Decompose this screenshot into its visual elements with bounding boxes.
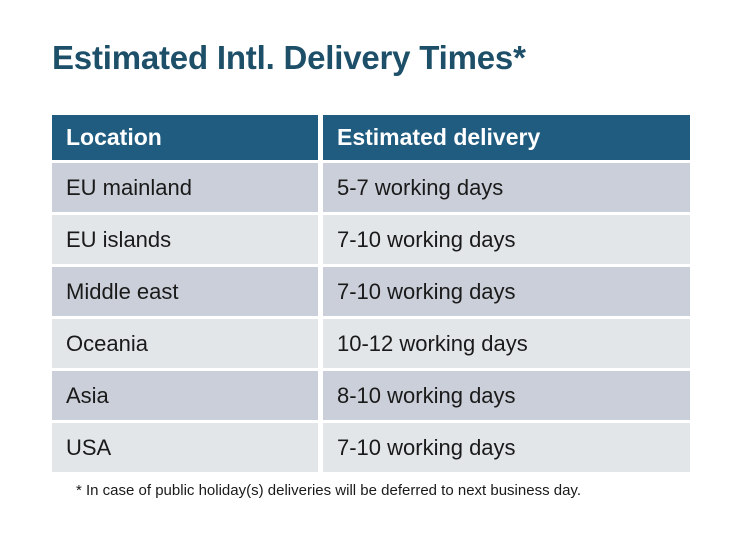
cell-location: Oceania	[52, 319, 318, 368]
cell-estimated-delivery: 7-10 working days	[323, 215, 690, 264]
table-row: Oceania 10-12 working days	[52, 319, 690, 368]
delivery-times-table: Location Estimated delivery EU mainland …	[52, 115, 690, 472]
column-header-estimated-delivery: Estimated delivery	[323, 115, 690, 160]
footnote: * In case of public holiday(s) deliverie…	[76, 481, 581, 501]
page-title: Estimated Intl. Delivery Times*	[52, 38, 526, 78]
column-header-location: Location	[52, 115, 318, 160]
cell-estimated-delivery: 10-12 working days	[323, 319, 690, 368]
cell-location: EU islands	[52, 215, 318, 264]
cell-location: Asia	[52, 371, 318, 420]
delivery-times-card: Estimated Intl. Delivery Times* Location…	[0, 0, 745, 536]
cell-estimated-delivery: 5-7 working days	[323, 163, 690, 212]
table-row: Middle east 7-10 working days	[52, 267, 690, 316]
table-row: EU islands 7-10 working days	[52, 215, 690, 264]
cell-estimated-delivery: 8-10 working days	[323, 371, 690, 420]
cell-estimated-delivery: 7-10 working days	[323, 423, 690, 472]
cell-location: Middle east	[52, 267, 318, 316]
table-row: Asia 8-10 working days	[52, 371, 690, 420]
cell-estimated-delivery: 7-10 working days	[323, 267, 690, 316]
table-header-row: Location Estimated delivery	[52, 115, 690, 160]
cell-location: EU mainland	[52, 163, 318, 212]
cell-location: USA	[52, 423, 318, 472]
table-row: EU mainland 5-7 working days	[52, 163, 690, 212]
table-row: USA 7-10 working days	[52, 423, 690, 472]
